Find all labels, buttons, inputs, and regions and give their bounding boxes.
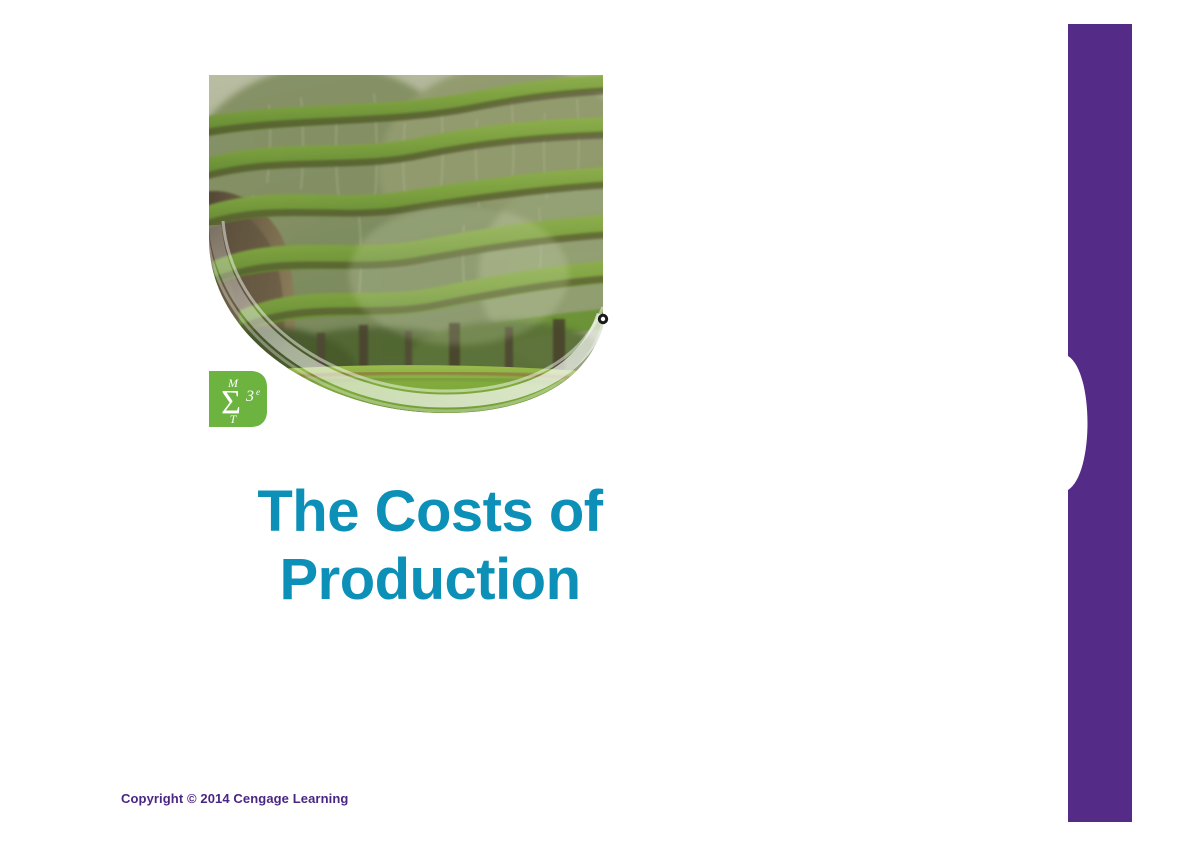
- slide-title-line-2: Production: [120, 546, 740, 614]
- logo-edition-superscript: e: [256, 387, 260, 397]
- logo-edition: 3: [245, 388, 254, 405]
- photo-content: [209, 75, 603, 413]
- slide-title-line-1: The Costs of: [120, 478, 740, 546]
- image-resize-handle[interactable]: [597, 313, 609, 325]
- slide-title: The Costs of Production: [120, 478, 740, 615]
- purple-bar-shape: [1068, 24, 1132, 822]
- sigma-logo: M Σ T 3 e: [209, 371, 269, 427]
- copyright-notice: Copyright © 2014 Cengage Learning: [121, 791, 348, 806]
- title-image: [209, 75, 603, 413]
- purple-accent-bar: [1068, 24, 1132, 822]
- presentation-slide: M Σ T 3 e The Costs of Production Copyri…: [0, 0, 1200, 848]
